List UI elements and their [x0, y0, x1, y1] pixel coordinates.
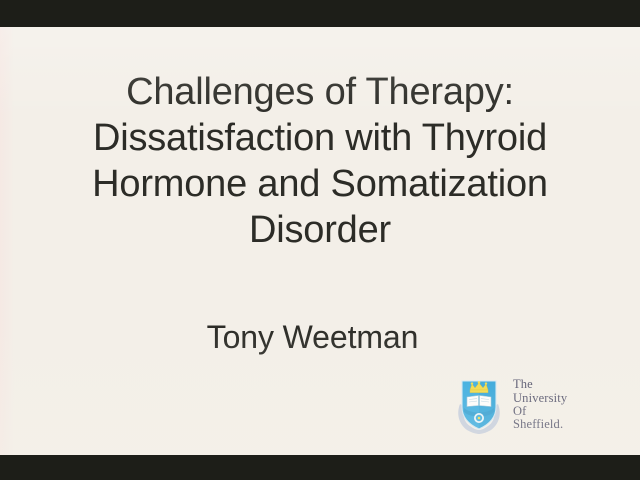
logo-wordmark-line-3: Of: [513, 405, 567, 418]
title-line-1: Challenges of Therapy:: [0, 69, 640, 115]
speaker-name: Tony Weetman: [0, 318, 625, 356]
letterbox-bar-bottom: [0, 455, 640, 480]
title-line-2: Dissatisfaction with Thyroid: [0, 115, 640, 161]
title-line-4: Disorder: [0, 207, 640, 253]
university-logo: The University Of Sheffield.: [455, 369, 620, 441]
logo-wordmark-line-2: University: [513, 392, 567, 405]
letterbox-bar-top: [0, 0, 640, 27]
logo-wordmark-line-4: Sheffield.: [513, 418, 567, 431]
presentation-slide: Challenges of Therapy: Dissatisfaction w…: [0, 27, 640, 455]
title-line-3: Hormone and Somatization: [0, 161, 640, 207]
logo-wordmark-line-1: The: [513, 378, 567, 391]
video-frame: Challenges of Therapy: Dissatisfaction w…: [0, 0, 640, 480]
logo-wordmark: The University Of Sheffield.: [513, 378, 567, 432]
slide-title: Challenges of Therapy: Dissatisfaction w…: [0, 69, 640, 253]
university-of-sheffield-crest-icon: [455, 374, 503, 436]
